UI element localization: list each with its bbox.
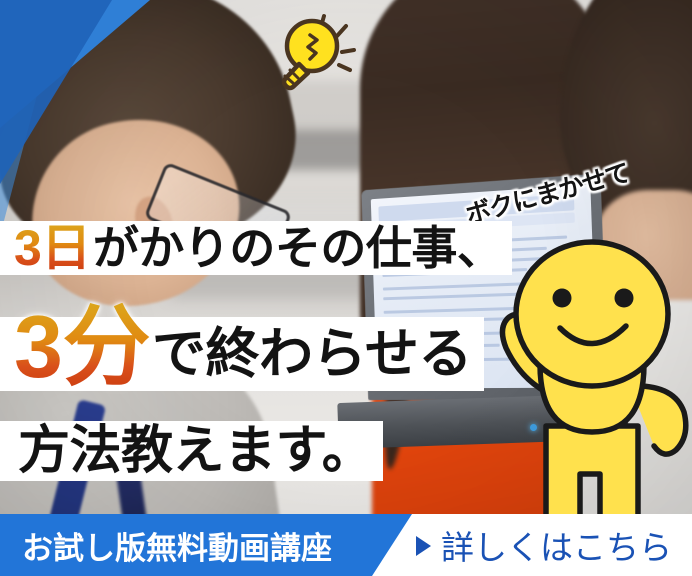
cta-bar: お試し版無料動画講座 詳しくはこちら <box>0 514 692 576</box>
play-triangle-icon <box>416 536 431 556</box>
trial-course-label: お試し版無料動画講座 <box>22 523 332 568</box>
details-link-label: 詳しくはこちら <box>441 521 672 569</box>
promo-banner: ボクにまかせて 3日 がかりのその仕事、 3分 で終わらせる 方法教えます。 <box>0 0 692 576</box>
trial-course-badge[interactable]: お試し版無料動画講座 <box>0 514 412 576</box>
headline-2-rest: で終わらせる <box>152 327 472 381</box>
details-link[interactable]: 詳しくはこちら <box>416 514 672 576</box>
mascot-eye-right <box>615 289 634 308</box>
headline-2-accent: 3分 <box>14 303 152 391</box>
headline-3-text: 方法教えます。 <box>18 425 373 477</box>
yellow-smiley-mascot <box>488 236 692 536</box>
headline-line-3: 方法教えます。 <box>0 421 383 481</box>
headline-1-accent: 3日 <box>14 223 93 273</box>
headline-line-2: 3分 で終わらせる <box>0 317 484 391</box>
headline-1-rest: がかりのその仕事、 <box>93 225 503 271</box>
lightbulb-icon <box>258 6 364 92</box>
ribbon-layer-dark <box>0 0 112 184</box>
mascot-eye-left <box>553 289 572 308</box>
headline-line-1: 3日 がかりのその仕事、 <box>0 221 512 275</box>
